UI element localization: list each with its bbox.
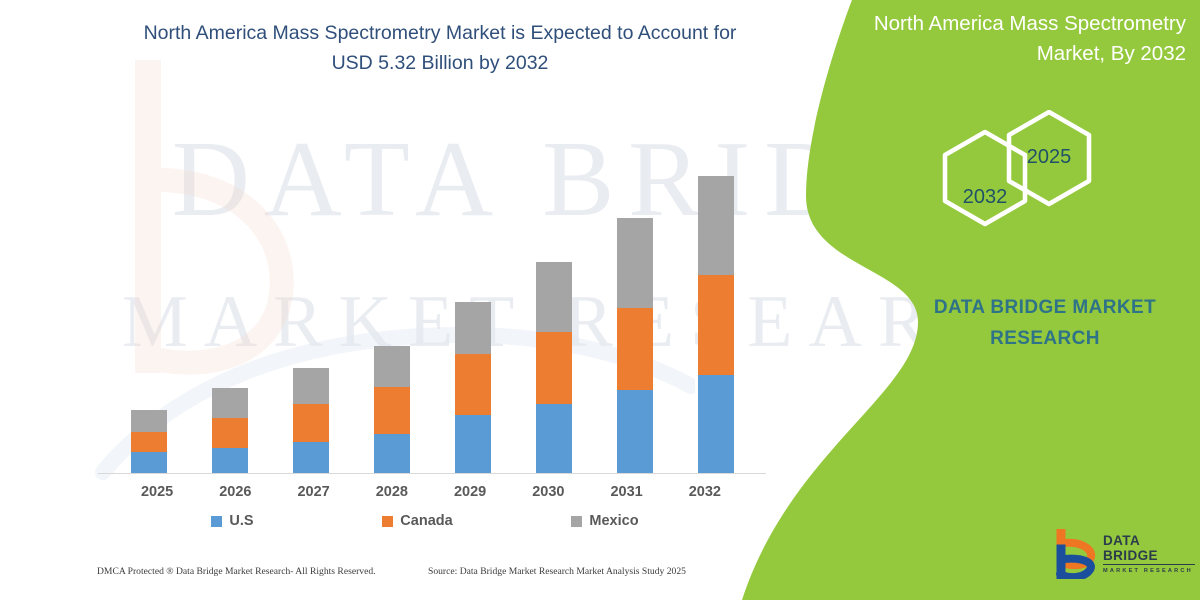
x-tick-2027: 2027: [296, 484, 332, 500]
bar-segment-us: [293, 442, 329, 474]
bar-column: [131, 150, 167, 474]
logo-text-block: DATA BRIDGE MARKET RESEARCH: [1103, 533, 1195, 577]
page-title: North America Mass Spectrometry Market i…: [130, 18, 750, 78]
footer-source-text: Source: Data Bridge Market Research Mark…: [428, 566, 686, 577]
bar-column: [536, 150, 572, 474]
bar-segment-mexico: [455, 302, 491, 354]
bar-segment-us: [698, 375, 734, 474]
bar-segment-canada: [455, 354, 491, 415]
bar-segment-mexico: [293, 368, 329, 404]
bar-segment-canada: [374, 387, 410, 434]
bar-segment-canada: [617, 308, 653, 390]
panel-brand-text: DATA BRIDGE MARKET RESEARCH: [900, 292, 1190, 354]
bar-segment-mexico: [374, 346, 410, 387]
bar-segment-mexico: [131, 410, 167, 432]
bar-segment-us: [374, 434, 410, 474]
data-bridge-mark-icon: [1055, 529, 1099, 579]
x-tick-2031: 2031: [609, 484, 645, 500]
legend-swatch-icon: [571, 516, 582, 527]
bar-segment-us: [536, 404, 572, 474]
bar-segment-us: [212, 448, 248, 474]
bar-segment-canada: [698, 275, 734, 375]
bar-segment-mexico: [698, 176, 734, 275]
bar-segment-canada: [131, 432, 167, 452]
bar-column: [293, 150, 329, 474]
x-tick-2032: 2032: [687, 484, 723, 500]
chart-plot-area: [108, 150, 756, 474]
legend-label: Mexico: [589, 513, 638, 529]
legend-item-canada[interactable]: Canada: [325, 513, 510, 529]
legend-item-us[interactable]: U.S: [140, 513, 325, 529]
bar-segment-us: [455, 415, 491, 474]
bar-segment-canada: [536, 332, 572, 404]
panel-title: North America Mass Spectrometry Market, …: [862, 9, 1186, 69]
hexagon-label-2032: 2032: [945, 186, 1025, 209]
bar-column: [212, 150, 248, 474]
bar-column: [698, 150, 734, 474]
legend-label: U.S: [229, 513, 253, 529]
bar-segment-canada: [212, 418, 248, 448]
bar-segment-mexico: [212, 388, 248, 418]
bar-segment-canada: [293, 404, 329, 442]
x-tick-2030: 2030: [530, 484, 566, 500]
hexagon-group: 2025 2032: [925, 110, 1115, 250]
x-tick-2025: 2025: [139, 484, 175, 500]
legend-swatch-icon: [382, 516, 393, 527]
chart-legend: U.SCanadaMexico: [140, 509, 700, 533]
footer-dmca-text: DMCA Protected ® Data Bridge Market Rese…: [97, 566, 376, 577]
bar-segment-mexico: [617, 218, 653, 308]
x-tick-2026: 2026: [217, 484, 253, 500]
bar-segment-us: [617, 390, 653, 474]
stacked-bar-chart: [86, 150, 766, 480]
infographic-root: DATA BRIDGE MARKET RESEARCH North Americ…: [0, 0, 1200, 600]
bar-column: [617, 150, 653, 474]
x-axis-line: [98, 473, 766, 474]
x-tick-2029: 2029: [452, 484, 488, 500]
hexagon-label-2025: 2025: [1009, 146, 1089, 169]
bar-column: [374, 150, 410, 474]
legend-label: Canada: [400, 513, 452, 529]
data-bridge-logo: DATA BRIDGE MARKET RESEARCH: [1055, 527, 1195, 583]
x-tick-2028: 2028: [374, 484, 410, 500]
hexagon-shapes-icon: [925, 110, 1115, 250]
footer: DMCA Protected ® Data Bridge Market Rese…: [0, 566, 800, 586]
logo-name: DATA BRIDGE: [1103, 533, 1195, 565]
x-axis-tick-labels: 20252026202720282029203020312032: [86, 480, 766, 504]
legend-item-mexico[interactable]: Mexico: [510, 513, 700, 529]
bar-segment-us: [131, 452, 167, 474]
bar-segment-mexico: [536, 262, 572, 332]
bar-column: [455, 150, 491, 474]
logo-tagline: MARKET RESEARCH: [1103, 566, 1195, 577]
legend-swatch-icon: [211, 516, 222, 527]
